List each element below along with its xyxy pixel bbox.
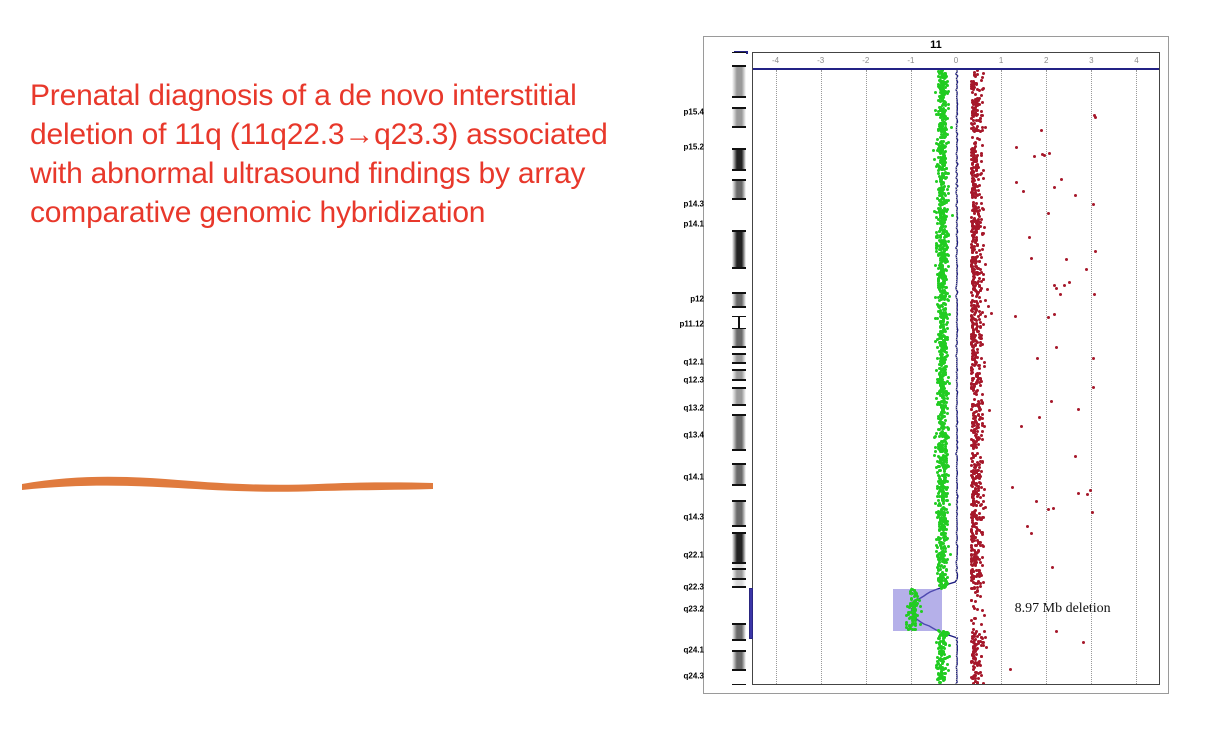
scatter-point [1009,668,1012,671]
scatter-point [977,364,980,367]
scatter-point [976,97,979,100]
scatter-point [941,203,944,206]
scatter-point [974,289,977,292]
scatter-point [1047,316,1050,319]
scatter-point [983,365,986,368]
scatter-point [942,156,945,159]
scatter-point [972,622,975,625]
scatter-point [939,446,942,449]
scatter-point [947,172,950,175]
scatter-point [935,244,938,247]
scatter-point [976,574,979,577]
scatter-point [942,458,945,461]
scatter-point [971,196,974,199]
axis-tick-label: 2 [1044,56,1048,65]
scatter-point [972,682,975,684]
axis-tick-label: -2 [862,56,869,65]
ideogram-band [732,579,746,586]
scatter-point [936,222,939,225]
scatter-point [979,561,982,564]
scatter-point [976,351,979,354]
ideogram-band [732,388,746,405]
scatter-point [1040,129,1043,132]
scatter-point [933,210,936,213]
scatter-point [943,545,946,548]
scatter-point [938,552,941,555]
scatter-point [980,357,983,360]
scatter-point [1053,284,1056,287]
ideogram-band [732,670,746,685]
scatter-point [979,300,982,303]
scatter-point [1077,408,1080,411]
scatter-point [974,416,977,419]
gridline [866,70,867,684]
scatter-point [980,172,983,175]
scatter-point [939,665,942,668]
scatter-point [980,434,983,437]
scatter-point [943,468,946,471]
scatter-point [941,483,944,486]
scatter-point [945,488,948,491]
scatter-point [943,538,946,541]
ideogram-band [732,180,746,199]
ideogram-band-label: q24.3 [684,671,704,680]
ideogram-band [732,651,746,670]
scatter-point [981,248,984,251]
ideogram-band-label: q22.1 [684,551,704,560]
ideogram-band-label: p15.2 [684,142,704,151]
scatter-point [975,390,978,393]
scatter-point [1028,236,1031,239]
ideogram-band [732,370,746,380]
scatter-point [976,608,979,611]
ideogram-band-label: q24.1 [684,646,704,655]
ideogram-band [732,464,746,485]
scatter-point [980,160,983,163]
scatter-point [973,617,976,620]
ideogram-band [732,268,746,293]
scatter-point [980,110,983,113]
acgh-chart-panel: 11 p15.4p15.2p14.3p14.1p12p11.12q12.1q12… [703,36,1169,694]
scatter-point [934,296,937,299]
scatter-point [910,598,913,601]
ideogram-band-label: q13.2 [684,403,704,412]
scatter-point [971,540,974,543]
scatter-point [981,207,984,210]
scatter-point [1014,315,1017,318]
scatter-point [946,523,949,526]
axis-tick-label: -4 [772,56,779,65]
scatter-point [971,493,974,496]
scatter-point [947,254,950,257]
scatter-point [982,273,985,276]
x-axis: -4-3-2-101234 [753,53,1159,70]
scatter-point [980,256,983,259]
scatter-point [972,387,975,390]
scatter-point [970,661,973,664]
scatter-point [940,142,943,145]
scatter-point [972,84,975,87]
scatter-point [947,90,950,93]
ideogram-band-label: p11.12 [680,320,704,329]
scatter-point [942,642,945,645]
ideogram-band-label: q12.3 [684,375,704,384]
scatter-point [935,544,938,547]
scatter-point [934,109,937,112]
scatter-point [945,167,948,170]
scatter-point [971,548,974,551]
scatter-point [941,507,944,510]
scatter-point [938,248,941,251]
ink-stroke-underline [18,462,438,502]
scatter-point [970,230,973,233]
scatter-point [948,644,951,647]
ideogram-band [732,363,746,370]
gridline [821,70,822,684]
scatter-point [971,136,974,139]
scatter-point [1091,511,1094,514]
scatter-point [970,367,973,370]
ideogram-band-label: q22.3 [684,582,704,591]
scatter-point [973,113,976,116]
scatter-point [982,72,985,75]
scatter-point [1043,154,1046,157]
scatter-point [947,545,950,548]
scatter-point [971,460,974,463]
scatter-point [974,196,977,199]
ideogram-band-label: q12.1 [684,358,704,367]
scatter-point [941,345,944,348]
scatter-point [975,207,978,210]
scatter-point [940,386,943,389]
scatter-point [1038,416,1041,419]
scatter-point [938,465,941,468]
scatter-point [941,221,944,224]
ideogram-band [732,624,746,640]
scatter-point [970,530,973,533]
ideogram-band [732,52,746,66]
scatter-point [978,660,981,663]
chromosome-ideogram: p15.4p15.2p14.3p14.1p12p11.12q12.1q12.3q… [704,52,752,685]
scatter-point [940,355,943,358]
scatter-point [943,302,946,305]
gridline [1001,70,1002,684]
scatter-point [982,644,985,647]
scatter-point [941,368,944,371]
ideogram-band-label: q14.3 [684,513,704,522]
ideogram-band-label: p14.1 [684,220,704,229]
scatter-point [1048,152,1051,155]
ideogram-bands [732,52,746,685]
scatter-point [939,360,942,363]
scatter-point [937,428,940,431]
scatter-point [945,401,948,404]
scatter-point [971,496,974,499]
ideogram-band [732,149,746,170]
scatter-point [944,291,947,294]
gridline [1136,70,1137,684]
scatter-point [947,185,950,188]
ideogram-band-label: q14.1 [684,473,704,482]
scatter-point [941,659,944,662]
scatter-point [983,226,986,229]
scatter-point [937,143,940,146]
scatter-point [945,442,948,445]
deletion-extent-marker [749,588,753,639]
scatter-point [937,279,940,282]
scatter-point [976,681,979,684]
ideogram-band [732,127,746,149]
scatter-point [972,439,975,442]
scatter-point [943,361,946,364]
axis-tick-label: -3 [817,56,824,65]
scatter-point [980,655,983,658]
scatter-point [974,334,977,337]
scatter-point [980,470,983,473]
scatter-point [976,330,979,333]
scatter-point [981,393,984,396]
scatter-point [942,392,945,395]
scatter-point [945,258,948,261]
scatter-point [970,484,973,487]
gridline [776,70,777,684]
scatter-point [941,335,944,338]
scatter-point [943,214,946,217]
scatter-point [1030,257,1033,260]
scatter-point [982,244,985,247]
scatter-point [978,473,981,476]
ideogram-band [732,640,746,651]
scatter-point [936,495,939,498]
scatter-point [940,582,943,585]
ideogram-band [732,501,746,526]
scatter-point [972,322,975,325]
scatter-point [939,312,942,315]
scatter-point [934,340,937,343]
ideogram-band [732,66,746,97]
scatter-point [946,298,949,301]
axis-tick-label: 4 [1134,56,1138,65]
scatter-point [911,588,914,591]
scatter-point [970,301,973,304]
scatter-point [982,169,985,172]
scatter-point [975,504,978,507]
scatter-point [934,435,937,438]
scatter-point [979,456,982,459]
scatter-point [981,556,984,559]
scatter-point [979,344,982,347]
scatter-point [974,650,977,653]
scatter-point [1055,346,1058,349]
scatter-point [981,233,984,236]
scatter-point [1011,486,1014,489]
scatter-point [942,311,945,314]
scatter-point [945,244,948,247]
page-title: Prenatal diagnosis of a de novo intersti… [30,76,655,232]
ideogram-band [732,533,746,563]
scatter-point [973,471,976,474]
ideogram-band-label: q23.2 [684,605,704,614]
scatter-point [978,272,981,275]
scatter-point [913,611,916,614]
scatter-point [944,104,947,107]
scatter-point [951,214,954,217]
ideogram-band [732,231,746,268]
scatter-point [977,493,980,496]
scatter-point [981,101,984,104]
ideogram-band-label: p15.4 [684,108,704,117]
scatter-point [980,79,983,82]
gridline [1091,70,1092,684]
scatter-point [978,367,981,370]
scatter-point [970,216,973,219]
scatter-point [971,147,974,150]
scatter-point [982,177,985,180]
scatter-point [978,372,981,375]
scatter-point [939,152,942,155]
scatter-point [943,185,946,188]
plot-area: 8.97 Mb deletion [753,70,1159,684]
gridline [1046,70,1047,684]
scatter-point [971,653,974,656]
scatter-point [975,225,978,228]
scatter-point [941,493,944,496]
ideogram-band [732,170,746,180]
ideogram-band [732,347,746,354]
scatter-point [943,397,946,400]
scatter-point [945,210,948,213]
scatter-point [979,268,982,271]
scatter-point [980,218,983,221]
scatter-point [946,511,949,514]
scatter-point [973,525,976,528]
scatter-point [978,466,981,469]
scatter-point [916,595,919,598]
scatter-point [916,598,919,601]
scatter-point [983,425,986,428]
scatter-point [940,136,943,139]
scatter-point [912,619,915,622]
scatter-point [948,295,951,298]
scatter-point [920,610,923,613]
scatter-point [945,390,948,393]
chromosome-title: 11 [704,39,1168,51]
centromere [738,317,740,328]
scatter-point [982,641,985,644]
scatter-point [972,677,975,680]
scatter-point [935,216,938,219]
scatter-point [910,616,913,619]
scatter-point [978,296,981,299]
scatter-point [981,424,984,427]
scatter-point [938,417,941,420]
scatter-point [935,397,938,400]
scatter-point [936,678,939,681]
scatter-point [1053,313,1056,316]
scatter-point [972,80,975,83]
ideogram-band-label: p14.3 [684,199,704,208]
scatter-point [942,280,945,283]
scatter-point [913,628,916,631]
scatter-point [981,609,984,612]
scatter-point [944,371,947,374]
ideogram-band [732,307,746,317]
scatter-point [937,579,940,582]
scatter-point [975,323,978,326]
scatter-point [944,128,947,131]
ideogram-band-label: p12 [690,294,704,303]
scatter-point [978,260,981,263]
scatter-point [938,461,941,464]
scatter-point [984,263,987,266]
scatter-point [946,663,949,666]
scatter-point [943,411,946,414]
ideogram-band [732,569,746,579]
deletion-annotation-label: 8.97 Mb deletion [1015,601,1111,617]
scatter-point [975,83,978,86]
scatter-point [940,654,943,657]
axis-tick-label: 3 [1089,56,1093,65]
scatter-point [975,230,978,233]
plot-frame: -4-3-2-101234 8.97 Mb deletion [752,52,1160,685]
ideogram-band [732,526,746,533]
axis-tick-label: -1 [907,56,914,65]
scatter-point [1035,500,1038,503]
scatter-point [980,674,983,677]
ideogram-band [732,485,746,501]
scatter-point [977,129,980,132]
scatter-point [939,147,942,150]
scatter-point [981,417,984,420]
axis-tick-label: 0 [954,56,958,65]
scatter-point [940,263,943,266]
scatter-point [1089,489,1092,492]
scatter-point [979,664,982,667]
ideogram-band [732,199,746,231]
ideogram-band [732,380,746,387]
scatter-point [971,352,974,355]
ideogram-band [732,450,746,464]
gridline [956,70,957,684]
ideogram-band [732,108,746,127]
scatter-point [943,432,946,435]
scatter-point [1015,146,1018,149]
scatter-point [944,75,947,78]
scatter-point [971,452,974,455]
scatter-point [948,313,951,316]
scatter-point [972,126,975,129]
scatter-point [978,89,981,92]
scatter-point [941,290,944,293]
scatter-point [949,553,952,556]
ideogram-band [732,293,746,307]
ideogram-band [732,354,746,363]
scatter-point [905,621,908,624]
scatter-point [941,474,944,477]
scatter-point [1082,641,1085,644]
scatter-point [939,79,942,82]
scatter-point [937,172,940,175]
scatter-point [973,364,976,367]
scatter-point [974,265,977,268]
scatter-point [940,85,943,88]
ideogram-band [732,415,746,450]
scatter-point [973,233,976,236]
scatter-point [970,341,973,344]
scatter-point [970,264,973,267]
scatter-point [939,234,942,237]
ideogram-band [732,405,746,415]
